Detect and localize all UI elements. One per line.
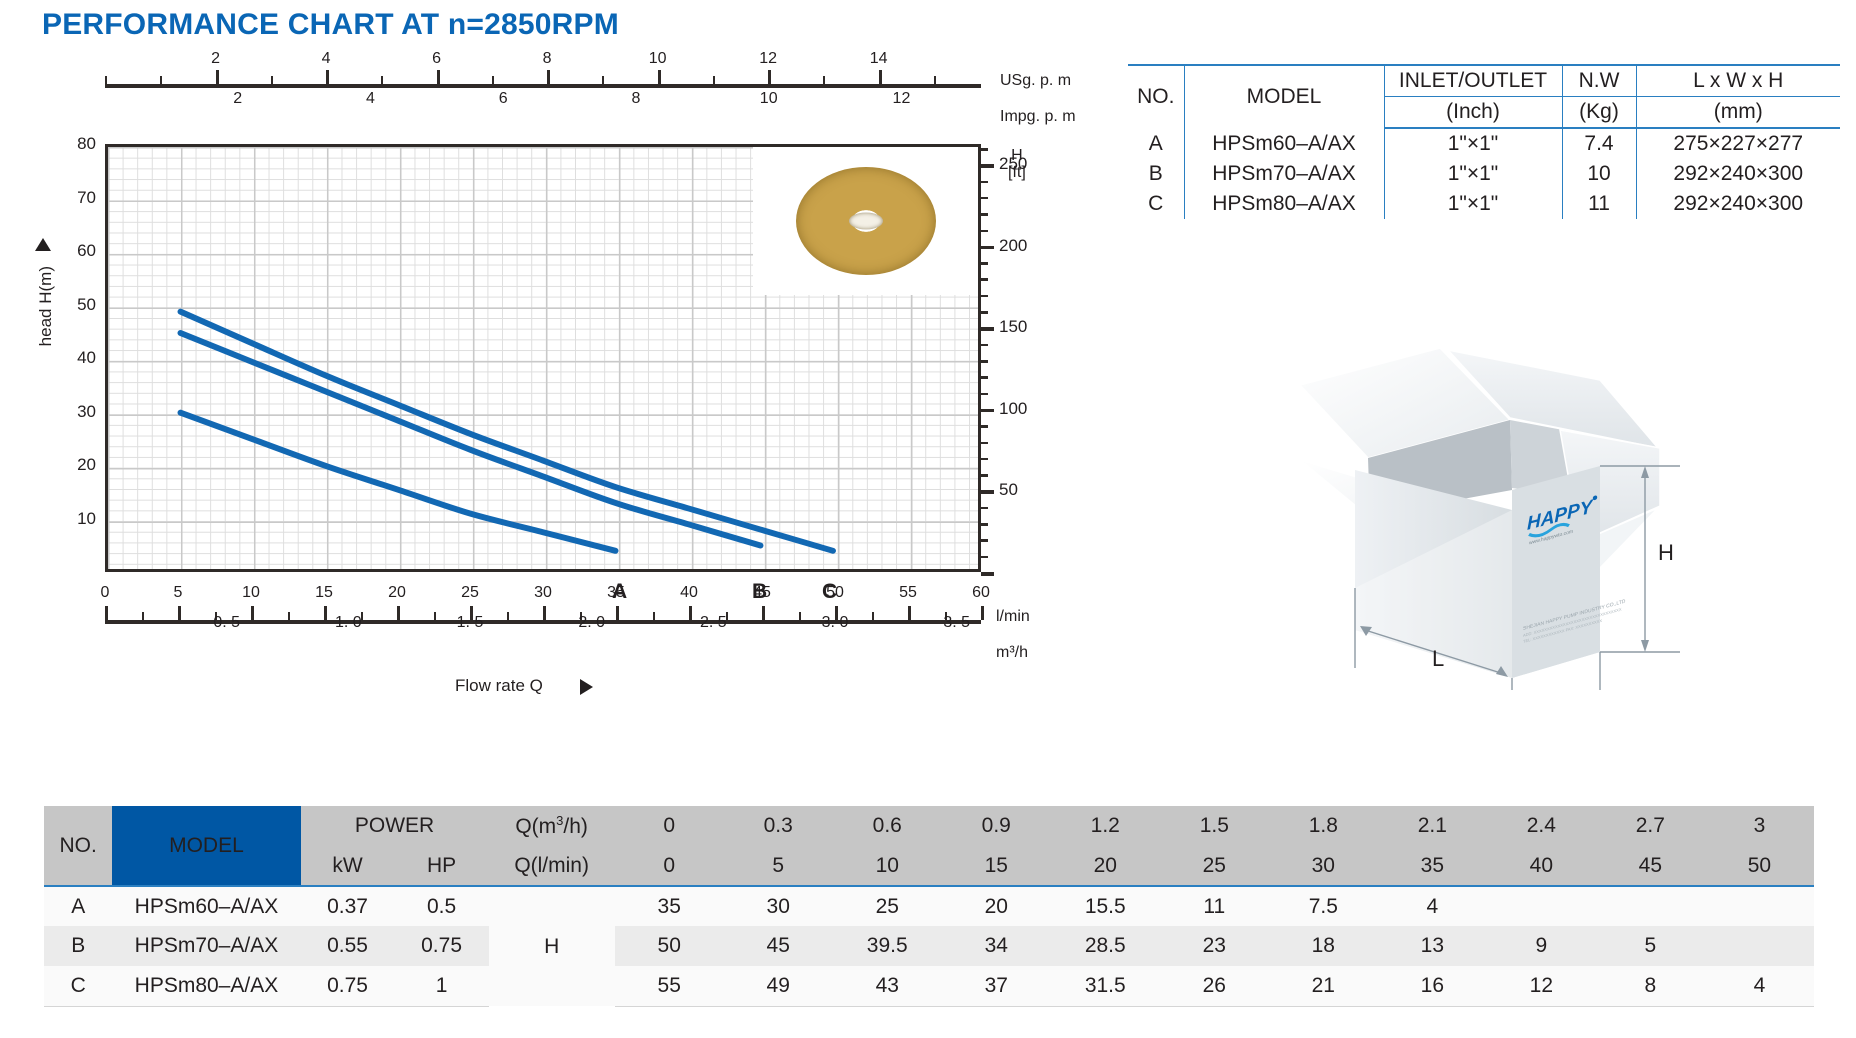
tick-label-head-m: 40 (56, 348, 96, 368)
data-header-q-lmin-value: 45 (1596, 846, 1705, 886)
spec-table-row: BHPSm70–A/AX1"×1"10292×240×300 (1128, 159, 1840, 189)
spec-header-inlet-unit: (Inch) (1384, 97, 1562, 129)
tick-label-lmin: 25 (461, 584, 479, 602)
tick-label-lmin: 60 (972, 584, 990, 602)
tick-label-usgpm: 4 (322, 50, 331, 68)
spec-cell-no: C (1128, 189, 1184, 219)
tick-label-impgpm: 6 (499, 90, 508, 108)
data-cell-head: 50 (615, 926, 724, 966)
data-header-q-lmin-value: 5 (724, 846, 833, 886)
data-header-hp: HP (395, 846, 489, 886)
spec-cell-inlet-outlet: 1"×1" (1384, 189, 1562, 219)
data-cell-hp: 0.75 (395, 926, 489, 966)
data-cell-head: 39.5 (833, 926, 942, 966)
tick-head-ft (981, 523, 988, 526)
spec-header-nw-unit: (Kg) (1562, 97, 1636, 129)
data-cell-hp: 1 (395, 966, 489, 1006)
data-header-row-2: kW HP Q(l/min) 05101520253035404550 (44, 846, 1814, 886)
curve-label-a: A (612, 580, 627, 604)
data-header-q-m3h-value: 1.8 (1269, 806, 1378, 846)
curve-c (180, 312, 832, 551)
tick-head-ft (981, 262, 988, 265)
data-header-q-m3h-value: 0.9 (942, 806, 1051, 846)
tick-label-lmin: 20 (388, 584, 406, 602)
data-table-element: NO. MODEL POWER Q(m3/h) 00.30.60.91.21.5… (44, 806, 1814, 1007)
data-cell-head: 5 (1596, 926, 1705, 966)
data-cell-head: 15.5 (1051, 886, 1160, 926)
data-header-q-lmin-value: 0 (615, 846, 724, 886)
data-cell-no: C (44, 966, 112, 1006)
spec-header-no: NO. (1128, 65, 1184, 128)
tick-label-head-m: 70 (56, 188, 96, 208)
tick-head-ft (981, 572, 994, 576)
performance-chart: 2468101214 USg. p. m 24681012 Impg. p. m… (0, 56, 1120, 676)
tick-label-impgpm: 2 (233, 90, 242, 108)
data-header-q-lmin-value: 15 (942, 846, 1051, 886)
tick-label-lmin: 30 (534, 584, 552, 602)
data-cell-head (1705, 926, 1814, 966)
tick-label-lmin: 55 (899, 584, 917, 602)
tick-label-head-m: 60 (56, 241, 96, 261)
curve-label-c: C (822, 580, 837, 604)
data-cell-head: 8 (1596, 966, 1705, 1006)
tick-head-ft (981, 246, 994, 250)
tick-label-lmin: 15 (315, 584, 333, 602)
data-cell-head: 37 (942, 966, 1051, 1006)
spec-table-row: CHPSm80–A/AX1"×1"11292×240×300 (1128, 189, 1840, 219)
carton-box-diagram: HAPPY www.happywto.com SHEJIAN HAPPY PUM… (1080, 330, 1800, 690)
data-header-q-lmin: Q(l/min) (489, 846, 615, 886)
right-axis-unit-ft: [ft] (1008, 164, 1026, 181)
data-cell-no: A (44, 886, 112, 926)
tick-label-head-m: 50 (56, 295, 96, 315)
data-header-q-lmin-value: 35 (1378, 846, 1487, 886)
spec-header-model: MODEL (1184, 65, 1384, 128)
data-table-body: AHPSm60–A/AX0.370.5H3530252015.5117.54BH… (44, 886, 1814, 1006)
tick-label-head-ft: 200 (999, 236, 1039, 256)
spec-table-body: AHPSm60–A/AX1"×1"7.4275×227×277BHPSm70–A… (1128, 128, 1840, 219)
data-cell-model: HPSm80–A/AX (112, 966, 300, 1006)
performance-curves (108, 147, 978, 572)
tick-label-m3h: 1. 5 (457, 614, 484, 632)
data-header-no: NO. (44, 806, 112, 886)
spec-cell-inlet-outlet: 1"×1" (1384, 128, 1562, 159)
spec-cell-nw: 7.4 (1562, 128, 1636, 159)
tick-head-ft (981, 295, 988, 298)
data-header-q-lmin-value: 40 (1487, 846, 1596, 886)
tick-label-lmin: 40 (680, 584, 698, 602)
spec-cell-model: HPSm80–A/AX (1184, 189, 1384, 219)
data-cell-kw: 0.75 (301, 966, 395, 1006)
carton-dim-h: H (1658, 540, 1674, 565)
spec-cell-no: A (1128, 128, 1184, 159)
tick-head-ft (981, 311, 988, 314)
tick-label-head-m: 10 (56, 509, 96, 529)
tick-head-ft (981, 197, 988, 200)
data-header-power: POWER (301, 806, 489, 846)
data-cell-head: 25 (833, 886, 942, 926)
spec-header-lwh: L x W x H (1636, 65, 1840, 97)
data-header-q-lmin-value: 50 (1705, 846, 1814, 886)
tick-label-m3h: 3. 0 (822, 614, 849, 632)
tick-label-m3h: 1. 0 (335, 614, 362, 632)
data-cell-head: 13 (1378, 926, 1487, 966)
axis-unit-impgpm: Impg. p. m (1000, 108, 1076, 126)
data-cell-hp: 0.5 (395, 886, 489, 926)
data-cell-head: 16 (1378, 966, 1487, 1006)
data-header-q-m3h-value: 2.7 (1596, 806, 1705, 846)
curve-label-b: B (752, 580, 767, 604)
axis-m3h: 0. 51. 01. 52. 02. 53. 03. 5 (105, 612, 981, 652)
data-cell-model: HPSm60–A/AX (112, 886, 300, 926)
carton-dim-l: L (1432, 646, 1444, 671)
data-header-q-m3h-value: 0 (615, 806, 724, 846)
data-header-q-m3h-value: 1.5 (1160, 806, 1269, 846)
data-cell-head: 35 (615, 886, 724, 926)
data-header-q-m3h-value: 0.3 (724, 806, 833, 846)
data-cell-kw: 0.55 (301, 926, 395, 966)
data-cell-head: 20 (942, 886, 1051, 926)
data-header-q-lmin-value: 30 (1269, 846, 1378, 886)
tick-label-head-m: 30 (56, 402, 96, 422)
right-axis-unit-h: H (1011, 147, 1023, 164)
tick-head-ft (981, 425, 988, 428)
tick-label-lmin: 0 (101, 584, 110, 602)
data-table-row: BHPSm70–A/AX0.550.75504539.53428.5231813… (44, 926, 1814, 966)
tick-label-lmin: 10 (242, 584, 260, 602)
data-cell-head: 12 (1487, 966, 1596, 1006)
data-cell-head: 18 (1269, 926, 1378, 966)
spec-table-row: AHPSm60–A/AX1"×1"7.4275×227×277 (1128, 128, 1840, 159)
tick-label-impgpm: 12 (893, 90, 911, 108)
axis-unit-usgpm: USg. p. m (1000, 72, 1071, 90)
right-axis-unit: H [ft] (1008, 148, 1026, 182)
tick-label-head-ft: 150 (999, 317, 1039, 337)
spec-cell-lwh: 275×227×277 (1636, 128, 1840, 159)
data-cell-head (1705, 886, 1814, 926)
tick-label-m3h: 0. 5 (213, 614, 240, 632)
specification-table: NO. MODEL INLET/OUTLET N.W L x W x H (In… (1128, 64, 1840, 219)
tick-head-ft (981, 148, 988, 151)
tick-label-m3h: 2. 0 (578, 614, 605, 632)
tick-head-ft (981, 490, 994, 494)
axis-unit-lmin: l/min (996, 608, 1030, 626)
spec-cell-no: B (1128, 159, 1184, 189)
tick-head-ft (981, 360, 988, 363)
spec-header-row-1: NO. MODEL INLET/OUTLET N.W L x W x H (1128, 65, 1840, 97)
data-table-row: CHPSm80–A/AX0.7515549433731.52621161284 (44, 966, 1814, 1006)
spec-header-nw: N.W (1562, 65, 1636, 97)
x-axis-arrow-icon (580, 679, 593, 695)
data-cell-head (1487, 886, 1596, 926)
tick-head-ft (981, 376, 988, 379)
tick-head-ft (981, 556, 988, 559)
data-cell-head: 55 (615, 966, 724, 1006)
tick-label-impgpm: 8 (632, 90, 641, 108)
data-cell-head: 26 (1160, 966, 1269, 1006)
tick-label-usgpm: 12 (759, 50, 777, 68)
data-cell-head: 11 (1160, 886, 1269, 926)
tick-head-ft (981, 344, 988, 347)
tick-label-m3h: 3. 5 (943, 614, 970, 632)
axis-impgpm: 24681012 (105, 74, 981, 114)
tick-label-head-m: 80 (56, 134, 96, 154)
data-header-q-lmin-value: 20 (1051, 846, 1160, 886)
data-header-q-lmin-value: 25 (1160, 846, 1269, 886)
data-header-kw: kW (301, 846, 395, 886)
tick-label-head-ft: 100 (999, 399, 1039, 419)
data-header-q-lmin-value: 10 (833, 846, 942, 886)
tick-head-ft (981, 409, 994, 413)
data-cell-head: 30 (724, 886, 833, 926)
data-cell-head: 45 (724, 926, 833, 966)
tick-head-ft (981, 458, 988, 461)
tick-label-impgpm: 10 (760, 90, 778, 108)
data-cell-head: 31.5 (1051, 966, 1160, 1006)
data-cell-head: 49 (724, 966, 833, 1006)
spec-cell-nw: 11 (1562, 189, 1636, 219)
tick-label-usgpm: 6 (432, 50, 441, 68)
tick-label-usgpm: 10 (649, 50, 667, 68)
axis-unit-m3h: m³/h (996, 644, 1028, 662)
tick-head-ft (981, 393, 988, 396)
data-cell-head: 28.5 (1051, 926, 1160, 966)
page-title: PERFORMANCE CHART AT n=2850RPM (42, 8, 619, 42)
y-axis-arrow-icon (35, 238, 51, 251)
data-header-row-1: NO. MODEL POWER Q(m3/h) 00.30.60.91.21.5… (44, 806, 1814, 846)
spec-cell-lwh: 292×240×300 (1636, 159, 1840, 189)
data-header-q-m3h: Q(m3/h) (489, 806, 615, 846)
tick-label-head-m: 20 (56, 455, 96, 475)
spec-cell-lwh: 292×240×300 (1636, 189, 1840, 219)
tick-head-ft (981, 474, 988, 477)
spec-cell-inlet-outlet: 1"×1" (1384, 159, 1562, 189)
tick-head-ft (981, 181, 988, 184)
data-cell-model: HPSm70–A/AX (112, 926, 300, 966)
data-cell-head: 4 (1378, 886, 1487, 926)
tick-label-m3h: 2. 5 (700, 614, 727, 632)
tick-head-ft (981, 539, 988, 542)
tick-lmin (981, 606, 984, 620)
tick-label-usgpm: 8 (543, 50, 552, 68)
data-cell-kw: 0.37 (301, 886, 395, 926)
tick-label-lmin: 5 (174, 584, 183, 602)
data-cell-head: 21 (1269, 966, 1378, 1006)
chart-plot-area (105, 144, 981, 572)
performance-chart-page: PERFORMANCE CHART AT n=2850RPM 246810121… (0, 0, 1856, 1038)
tick-head-ft (981, 507, 988, 510)
data-header-q-m3h-value: 3 (1705, 806, 1814, 846)
spec-table-element: NO. MODEL INLET/OUTLET N.W L x W x H (In… (1128, 64, 1840, 219)
tick-label-usgpm: 2 (211, 50, 220, 68)
data-header-q-m3h-value: 2.4 (1487, 806, 1596, 846)
tick-label-head-ft: 50 (999, 480, 1039, 500)
spec-cell-model: HPSm70–A/AX (1184, 159, 1384, 189)
spec-cell-nw: 10 (1562, 159, 1636, 189)
tick-head-ft (981, 278, 988, 281)
tick-head-ft (981, 164, 994, 168)
performance-data-table: NO. MODEL POWER Q(m3/h) 00.30.60.91.21.5… (44, 806, 1814, 1007)
spec-header-inlet-outlet: INLET/OUTLET (1384, 65, 1562, 97)
x-axis-label: Flow rate Q (455, 676, 543, 696)
data-cell-head: 7.5 (1269, 886, 1378, 926)
tick-label-usgpm: 14 (870, 50, 888, 68)
y-axis-label: head H(m) (36, 266, 56, 346)
data-cell-head: 23 (1160, 926, 1269, 966)
tick-head-ft (981, 230, 988, 233)
tick-head-ft (981, 213, 988, 216)
tick-label-impgpm: 4 (366, 90, 375, 108)
data-cell-head (1596, 886, 1705, 926)
spec-header-lwh-unit: (mm) (1636, 97, 1840, 129)
data-table-row: AHPSm60–A/AX0.370.5H3530252015.5117.54 (44, 886, 1814, 926)
data-header-q-m3h-value: 1.2 (1051, 806, 1160, 846)
data-header-q-m3h-value: 2.1 (1378, 806, 1487, 846)
data-cell-head: 34 (942, 926, 1051, 966)
data-cell-head: 9 (1487, 926, 1596, 966)
data-header-model: MODEL (112, 806, 300, 886)
data-cell-head: 4 (1705, 966, 1814, 1006)
spec-cell-model: HPSm60–A/AX (1184, 128, 1384, 159)
data-cell-h-label: H (489, 886, 615, 1006)
tick-head-ft (981, 442, 988, 445)
data-cell-head: 43 (833, 966, 942, 1006)
data-cell-no: B (44, 926, 112, 966)
data-header-q-m3h-value: 0.6 (833, 806, 942, 846)
tick-head-ft (981, 327, 994, 331)
